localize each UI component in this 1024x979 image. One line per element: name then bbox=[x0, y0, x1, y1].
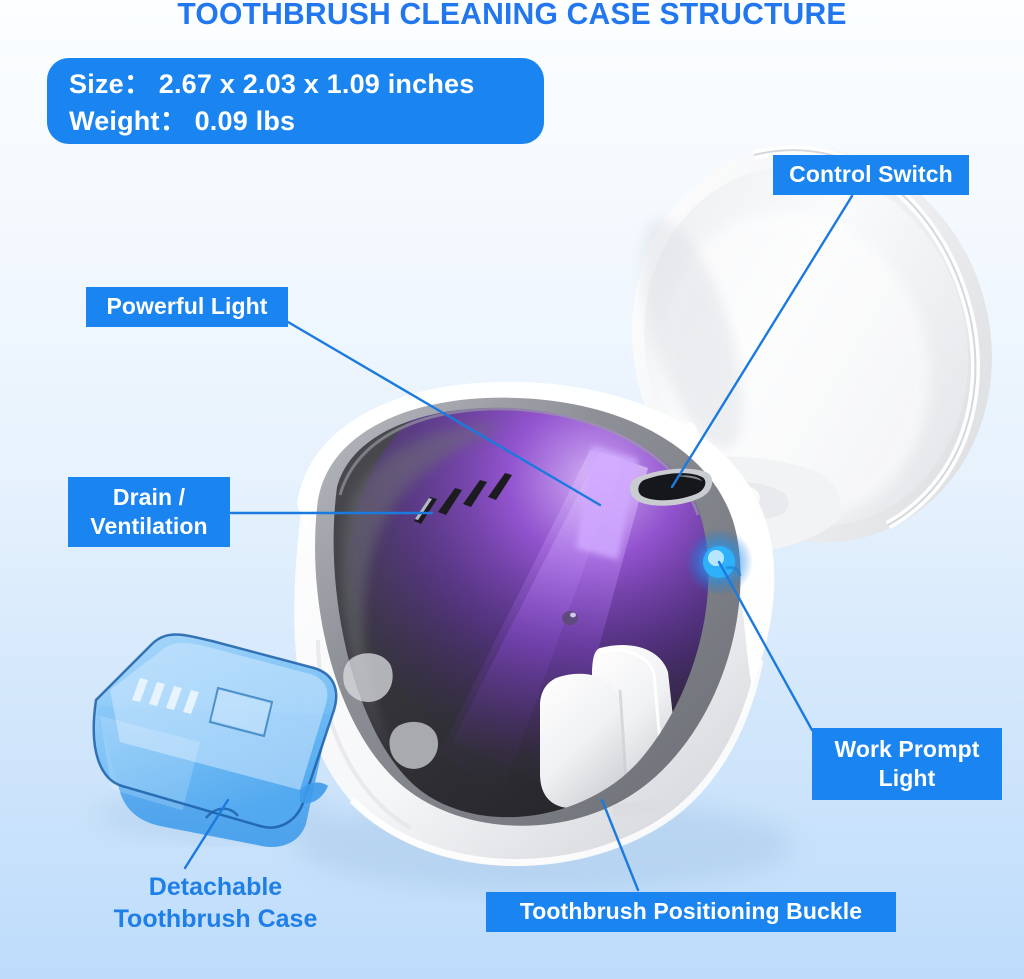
callout-control-switch[interactable]: Control Switch bbox=[773, 155, 969, 195]
callout-drain-ventilation[interactable]: Drain / Ventilation bbox=[68, 477, 230, 547]
leader-work-prompt-light bbox=[719, 562, 812, 730]
leader-powerful-light bbox=[288, 322, 600, 505]
callout-toothbrush-positioning-buckle[interactable]: Toothbrush Positioning Buckle bbox=[486, 892, 896, 932]
leader-control-switch bbox=[672, 196, 852, 487]
callout-powerful-light[interactable]: Powerful Light bbox=[86, 287, 288, 327]
callout-detachable-toothbrush-case[interactable]: Detachable Toothbrush Case bbox=[78, 871, 353, 935]
leader-detachable-case bbox=[185, 800, 228, 868]
callout-work-prompt-light[interactable]: Work Prompt Light bbox=[812, 728, 1002, 800]
leader-buckle bbox=[602, 800, 638, 890]
infographic-canvas: TOOTHBRUSH CLEANING CASE STRUCTURE Size：… bbox=[0, 0, 1024, 979]
